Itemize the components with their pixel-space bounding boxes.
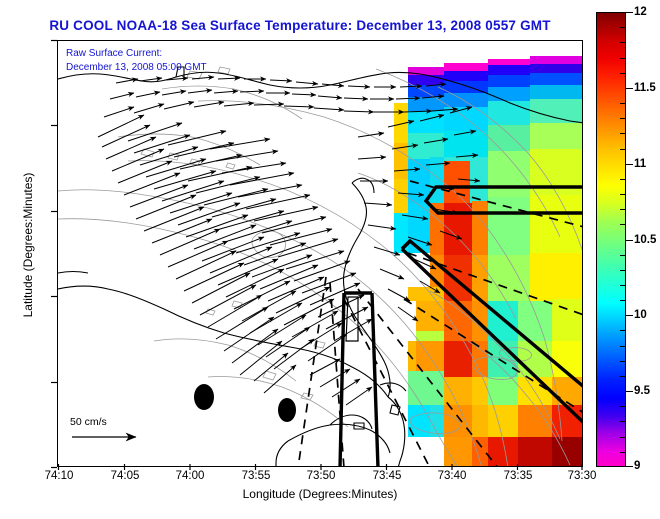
x-axis-tickmarks [57, 461, 585, 473]
map-canvas: Raw Surface Current: December 13, 2008 0… [58, 41, 582, 466]
velocity-scale-arrow-icon [70, 430, 148, 444]
annotation-line-1: Raw Surface Current: [66, 47, 207, 61]
x-axis-label: Longitude (Degrees:Minutes) [57, 487, 583, 501]
temperature-colorbar [596, 12, 626, 467]
figure-title: RU COOL NOAA-18 Sea Surface Temperature:… [0, 18, 600, 33]
map-svg [58, 41, 583, 467]
y-axis-tickmarks [48, 36, 60, 472]
velocity-scale-label: 50 cm/s [70, 416, 148, 428]
radar-site-marker-east [278, 398, 296, 422]
velocity-scale-legend: 50 cm/s [70, 416, 148, 444]
radar-site-marker-west [194, 384, 214, 410]
annotation-line-2: December 13, 2008 05:00 GMT [66, 61, 207, 75]
y-axis-label: Latitude (Degrees:Minutes) [21, 125, 35, 365]
surface-current-annotation: Raw Surface Current: December 13, 2008 0… [66, 47, 207, 75]
figure-root: RU COOL NOAA-18 Sea Surface Temperature:… [0, 0, 660, 519]
radar-site-markers [194, 384, 296, 422]
map-plot-area[interactable]: Raw Surface Current: December 13, 2008 0… [57, 40, 583, 467]
